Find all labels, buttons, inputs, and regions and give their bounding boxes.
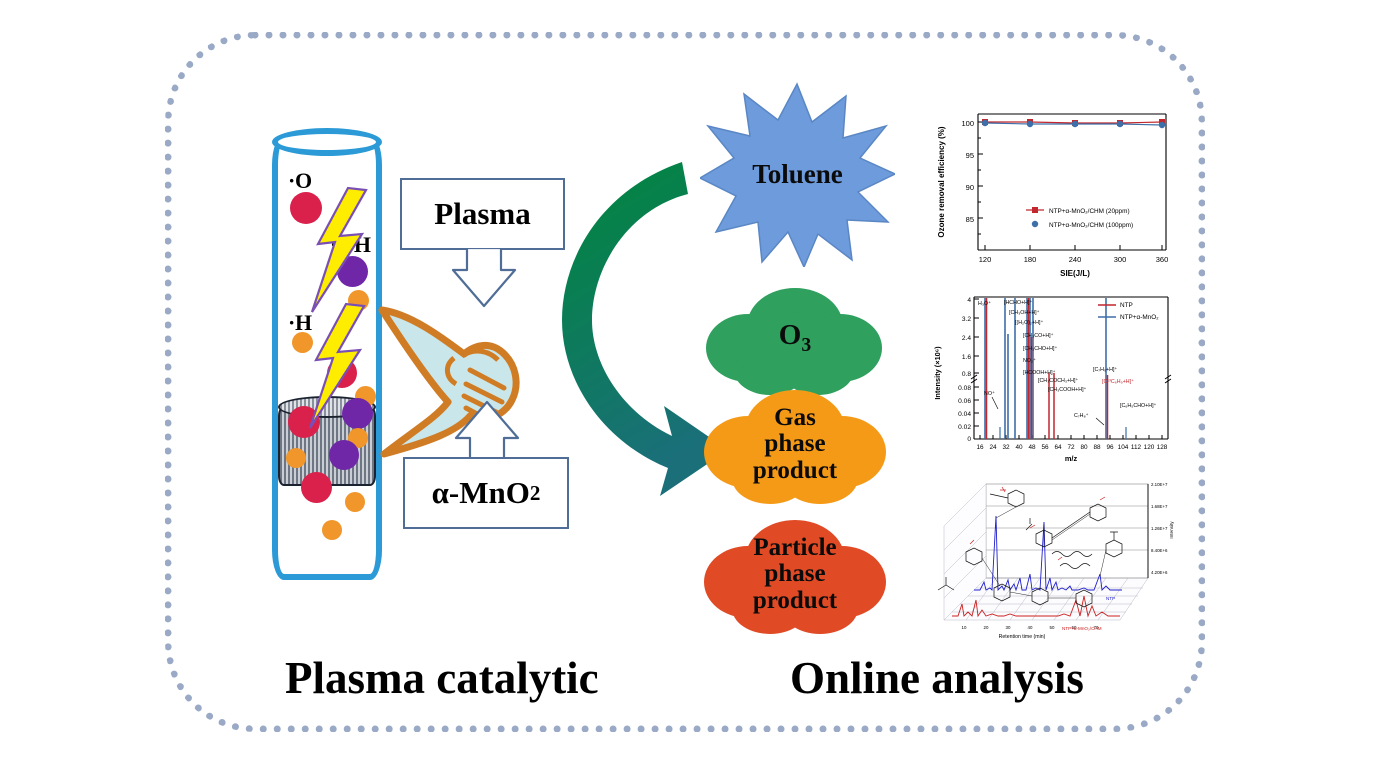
ms-annot-no2: NO₂⁺ (1023, 358, 1036, 364)
gc-xtick-3: 40 (1028, 625, 1033, 630)
particle-h-radical (345, 492, 365, 512)
gc-ms-3d-chart: 2.10E+7 1.68E+7 1.26E+7 8.40E+6 4.20E+6 … (930, 470, 1178, 642)
gas-phase-label: Gas phase product (753, 405, 837, 485)
ms-xtick-40: 40 (1015, 444, 1023, 451)
ms-ytick-4.0: 4 (967, 297, 971, 304)
ms-xtick-24: 24 (989, 444, 997, 451)
ms-xtick-88: 88 (1093, 444, 1101, 451)
ms-xtick-112: 112 (1131, 444, 1142, 451)
gc-xtick-0: 10 (962, 625, 967, 630)
ms-annot-c7h9: [C₇H₉+H]⁺ (1093, 367, 1117, 373)
particle-phase-line-1: Particle (753, 534, 836, 561)
plasma-down-arrow-icon (449, 248, 519, 308)
ozone-ytick-85: 85 (966, 215, 974, 224)
caption-plasma-catalytic: Plasma catalytic (285, 652, 599, 704)
ms-ytick-3.2: 3.2 (962, 316, 971, 323)
gc-trace-label-ntp-cat: NTP+α-MnO₂/CHM (1062, 626, 1102, 631)
catalyst-box-label: α-MnO (432, 475, 530, 511)
mass-spectrum-chart: 4 3.2 2.4 1.6 0.8 0.08 0.06 0.04 0.02 0 … (930, 287, 1175, 467)
ozone-cloud: O3 (700, 278, 890, 398)
ozone-xtick-180: 180 (1024, 255, 1037, 264)
ms-ytick-1.6: 1.6 (962, 354, 971, 361)
ms-xtick-56: 56 (1041, 444, 1049, 451)
caption-online-analysis: Online analysis (790, 652, 1084, 704)
ms-xtick-72: 72 (1067, 444, 1075, 451)
particle-phase-cloud: Particle phase product (700, 512, 890, 637)
gc-ytick-3: 8.40E+6 (1151, 548, 1168, 553)
gc-xtick-2: 30 (1006, 625, 1011, 630)
ms-ylabel: Intensity (×10⁶) (933, 346, 942, 400)
gas-phase-line-2: phase (764, 430, 825, 457)
graphical-abstract: ·O ·OH ·H Plasma α-MnO2 (0, 0, 1386, 780)
ms-xtick-80: 80 (1080, 444, 1088, 451)
ms-annot-benzaldehyde: [C₆H₅CHO+H]⁺ (1120, 403, 1157, 409)
gc-xtick-1: 20 (984, 625, 989, 630)
gc-yticks: 2.10E+7 1.68E+7 1.26E+7 8.40E+6 4.20E+6 (1151, 482, 1168, 575)
particle-h-radical (322, 520, 342, 540)
ms-ytick-0.02: 0.02 (958, 424, 971, 431)
ms-legend: NTP NTP+α-MnO₂ (1098, 302, 1159, 321)
gas-phase-line-1: Gas (774, 404, 816, 431)
particle-o-radical (301, 472, 332, 503)
ms-legend-label-ntp-mno2: NTP+α-MnO₂ (1120, 314, 1159, 321)
gc-ytick-4: 4.20E+6 (1151, 570, 1168, 575)
gc-xlabel: Retention time (min) (999, 634, 1046, 640)
ms-ytick-0.8: 0.8 (962, 371, 971, 378)
lightning-bolt-icon (302, 186, 374, 316)
ozone-ytick-95: 95 (966, 151, 974, 160)
ms-xtick-128: 128 (1157, 444, 1168, 451)
reactor-tube-rim (272, 128, 382, 156)
ms-ytick-0.08: 0.08 (958, 385, 971, 392)
ozone-ytick-90: 90 (966, 183, 974, 192)
ms-legend-label-ntp: NTP (1120, 302, 1133, 309)
particle-phase-label: Particle phase product (753, 535, 837, 615)
gas-phase-cloud: Gas phase product (700, 382, 890, 507)
particle-phase-line-3: product (753, 587, 837, 614)
catalyst-up-arrow-icon (452, 400, 522, 460)
ms-ytick-0.00: 0 (967, 436, 971, 443)
particle-h-radical (286, 448, 306, 468)
ms-xtick-48: 48 (1028, 444, 1036, 451)
ms-ytick-2.4: 2.4 (962, 335, 971, 342)
ozone-legend-label-1: NTP+α-MnO₂/CHM (100ppm) (1049, 222, 1133, 229)
gc-ylabel: Intensity (1169, 521, 1174, 539)
ozone-ytick-100: 100 (961, 119, 974, 128)
ms-ytick-0.04: 0.04 (958, 411, 971, 418)
ozone-xlabel: SIE(J/L) (1060, 269, 1090, 278)
ms-annot-ch3oh: [CH₃OH+H]⁺ (1009, 310, 1040, 316)
ms-xtick-16: 16 (976, 444, 984, 451)
ozone-ylabel: Ozone removal efficiency (%) (937, 126, 946, 237)
ms-annot-ch3cho: [CH₃CHO+H]⁺ (1023, 346, 1057, 352)
gc-ytick-0: 2.10E+7 (1151, 482, 1168, 487)
ms-annot-hcho: [HCHO+H]⁺ (1004, 300, 1032, 306)
ms-annot-ch3co: [CH₃CO+H]⁺ (1023, 333, 1054, 339)
plasma-box-label: Plasma (434, 196, 530, 232)
catalyst-box-subscript: 2 (530, 481, 541, 506)
ozone-legend: NTP+α-MnO₂/CHM (20ppm) NTP+α-MnO₂/CHM (1… (1026, 207, 1133, 229)
gc-ytick-2: 1.26E+7 (1151, 526, 1168, 531)
ms-xlabel: m/z (1065, 454, 1078, 463)
ms-annot-acetic: [CH₃COOH+H]⁺ (1048, 387, 1087, 393)
gc-xtick-4: 50 (1050, 625, 1055, 630)
ms-annot-h2o2: [(H₂O)₂+H]⁺ (1015, 320, 1043, 326)
ms-ytick-0.06: 0.06 (958, 398, 971, 405)
ms-annot-c7h8: C₇H₈⁺ (1074, 413, 1089, 419)
ozone-xtick-120: 120 (979, 255, 992, 264)
gas-phase-line-3: product (753, 457, 837, 484)
ozone-label: O3 (779, 320, 811, 356)
ms-annot-acetone: [CH₃COCH₃+H]⁺ (1038, 378, 1078, 384)
particle-phase-line-2: phase (764, 560, 825, 587)
ozone-xtick-360: 360 (1156, 255, 1169, 264)
ozone-label-subscript: 3 (801, 334, 811, 356)
ozone-removal-chart: 100 95 90 85 120 180 240 300 360 SIE(J/L… (930, 100, 1175, 282)
ozone-legend-label-0: NTP+α-MnO₂/CHM (20ppm) (1049, 208, 1130, 215)
gc-ytick-1: 1.68E+7 (1151, 504, 1168, 509)
ms-xtick-96: 96 (1106, 444, 1114, 451)
ms-xtick-32: 32 (1002, 444, 1010, 451)
ms-xtick-120: 120 (1144, 444, 1155, 451)
catalyst-box: α-MnO2 (403, 457, 569, 529)
particle-oh-radical (329, 440, 359, 470)
lightning-bolt-icon (300, 302, 372, 432)
ms-annot-hcooh: [HCOOH+H]⁺ (1023, 370, 1056, 376)
ozone-xtick-240: 240 (1069, 255, 1082, 264)
ozone-label-text: O (779, 319, 802, 351)
gc-red-accents (970, 487, 1105, 560)
toluene-star: Toluene (700, 82, 895, 267)
ms-annot-no: NO⁺ (984, 391, 995, 397)
ozone-xtick-300: 300 (1114, 255, 1127, 264)
toluene-label: Toluene (752, 160, 843, 189)
ms-annot-isotope: [C¹³C₆H₉+H]⁺ (1102, 379, 1134, 385)
gc-trace-label-ntp: NTP (1106, 596, 1115, 601)
plasma-box: Plasma (400, 178, 565, 250)
ms-xtick-104: 104 (1118, 444, 1129, 451)
ms-xtick-64: 64 (1054, 444, 1062, 451)
ms-annot-h3o: H₃O⁺ (978, 301, 991, 307)
